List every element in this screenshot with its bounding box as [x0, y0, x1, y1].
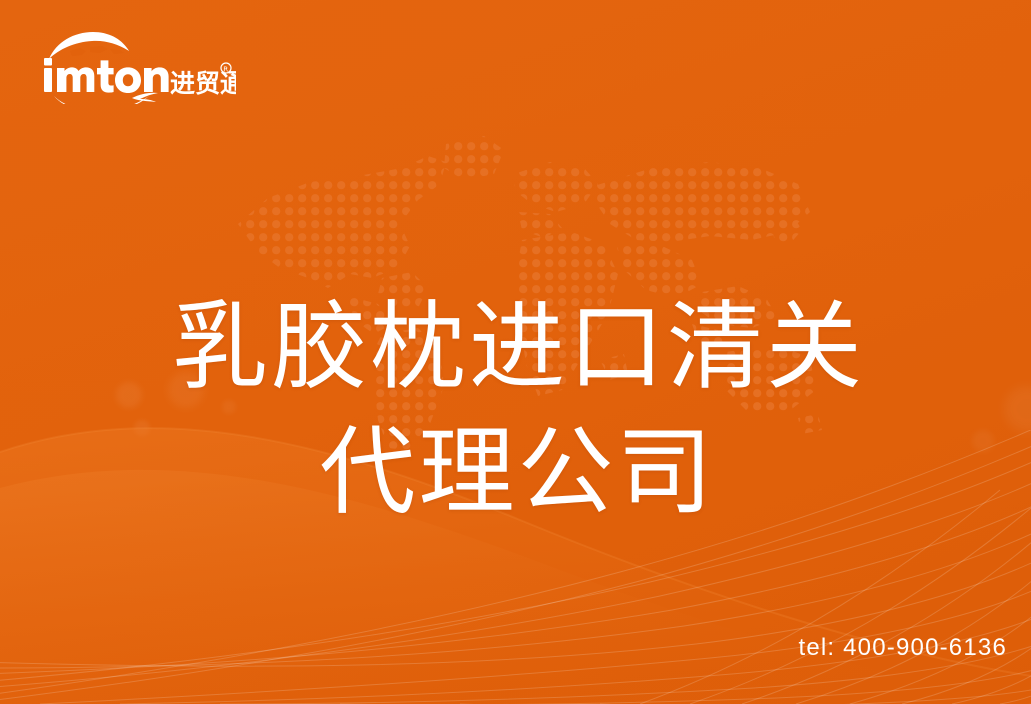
imton-logo[interactable]: 进贸通 R — [36, 26, 236, 104]
globe-icon — [49, 32, 129, 59]
svg-text:R: R — [223, 65, 228, 73]
page-title-line-2: 代理公司 — [0, 411, 1031, 536]
logo-wordmark — [44, 58, 169, 93]
promo-banner: 进贸通 R 乳胶枕进口清关 代理公司 tel: 400-900-6136 — [0, 0, 1031, 704]
swoosh-arrow-icon — [54, 93, 158, 104]
telephone-text: tel: 400-900-6136 — [798, 634, 1007, 662]
page-title: 乳胶枕进口清关 代理公司 — [0, 286, 1031, 536]
page-title-line-1: 乳胶枕进口清关 — [0, 286, 1031, 411]
